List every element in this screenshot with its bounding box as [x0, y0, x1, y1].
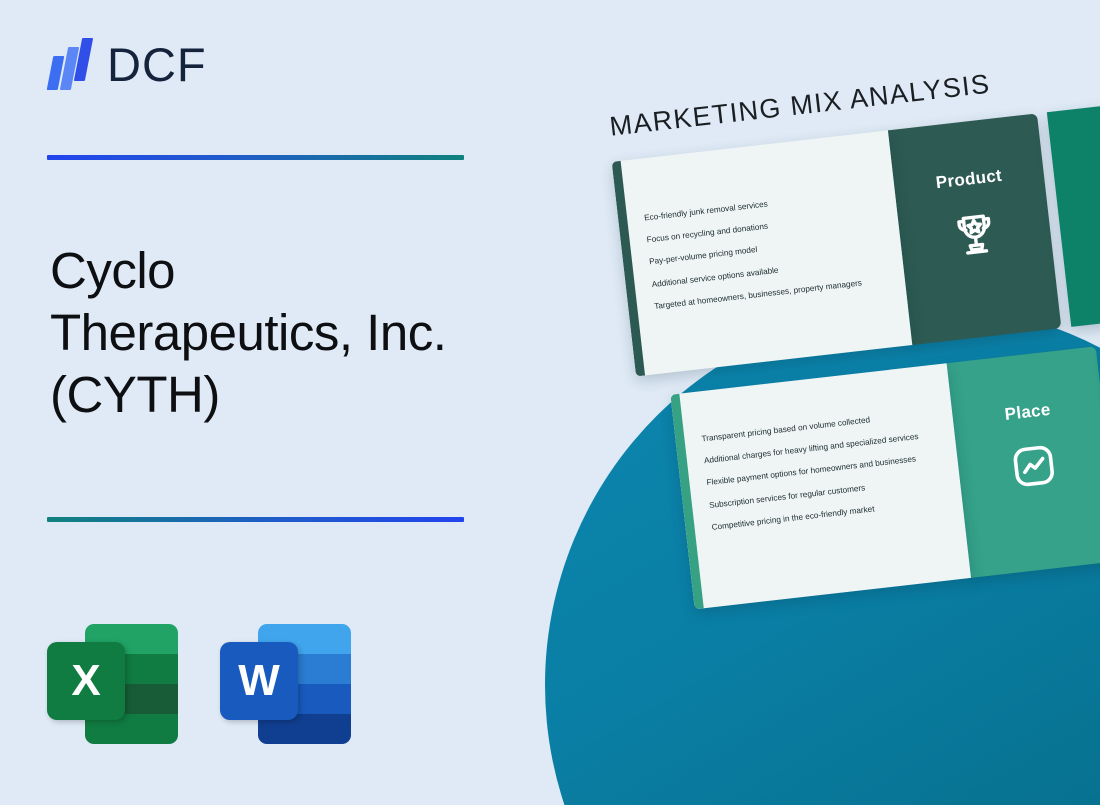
word-letter: W	[220, 642, 298, 720]
marketing-mix-deck: MARKETING MIX ANALYSIS Eco-friendly junk…	[588, 78, 1100, 638]
page-title-line-1: Cyclo	[50, 240, 550, 302]
trophy-icon	[946, 204, 1004, 262]
page-title: Cyclo Therapeutics, Inc. (CYTH)	[50, 240, 550, 427]
word-icon[interactable]: W	[220, 620, 355, 750]
card-place-label: Place	[1004, 400, 1052, 425]
product-bullets: Eco-friendly junk removal services Focus…	[612, 130, 913, 376]
place-bullets: Transparent pricing based on volume coll…	[670, 363, 971, 609]
divider-top	[47, 155, 464, 160]
page-title-line-3: (CYTH)	[50, 364, 550, 426]
brand-name: DCF	[107, 41, 207, 88]
card-place[interactable]: Place	[947, 346, 1100, 578]
page-title-line-2: Therapeutics, Inc.	[50, 302, 550, 364]
divider-bottom	[47, 517, 464, 522]
brand-logo: DCF	[47, 38, 207, 90]
excel-icon[interactable]: X	[47, 620, 182, 750]
slide-canvas: DCF Cyclo Therapeutics, Inc. (CYTH) X W …	[0, 0, 1100, 805]
chart-wave-icon	[1005, 437, 1063, 495]
card-product[interactable]: Product	[888, 113, 1061, 345]
file-format-icons: X W	[47, 620, 355, 750]
excel-letter: X	[47, 642, 125, 720]
marketing-mix-row-product: Eco-friendly junk removal services Focus…	[612, 95, 1100, 376]
card-product-label: Product	[935, 166, 1003, 193]
marketing-mix-row-place: Transparent pricing based on volume coll…	[670, 328, 1100, 609]
dcf-bars-logo-icon	[47, 38, 93, 90]
